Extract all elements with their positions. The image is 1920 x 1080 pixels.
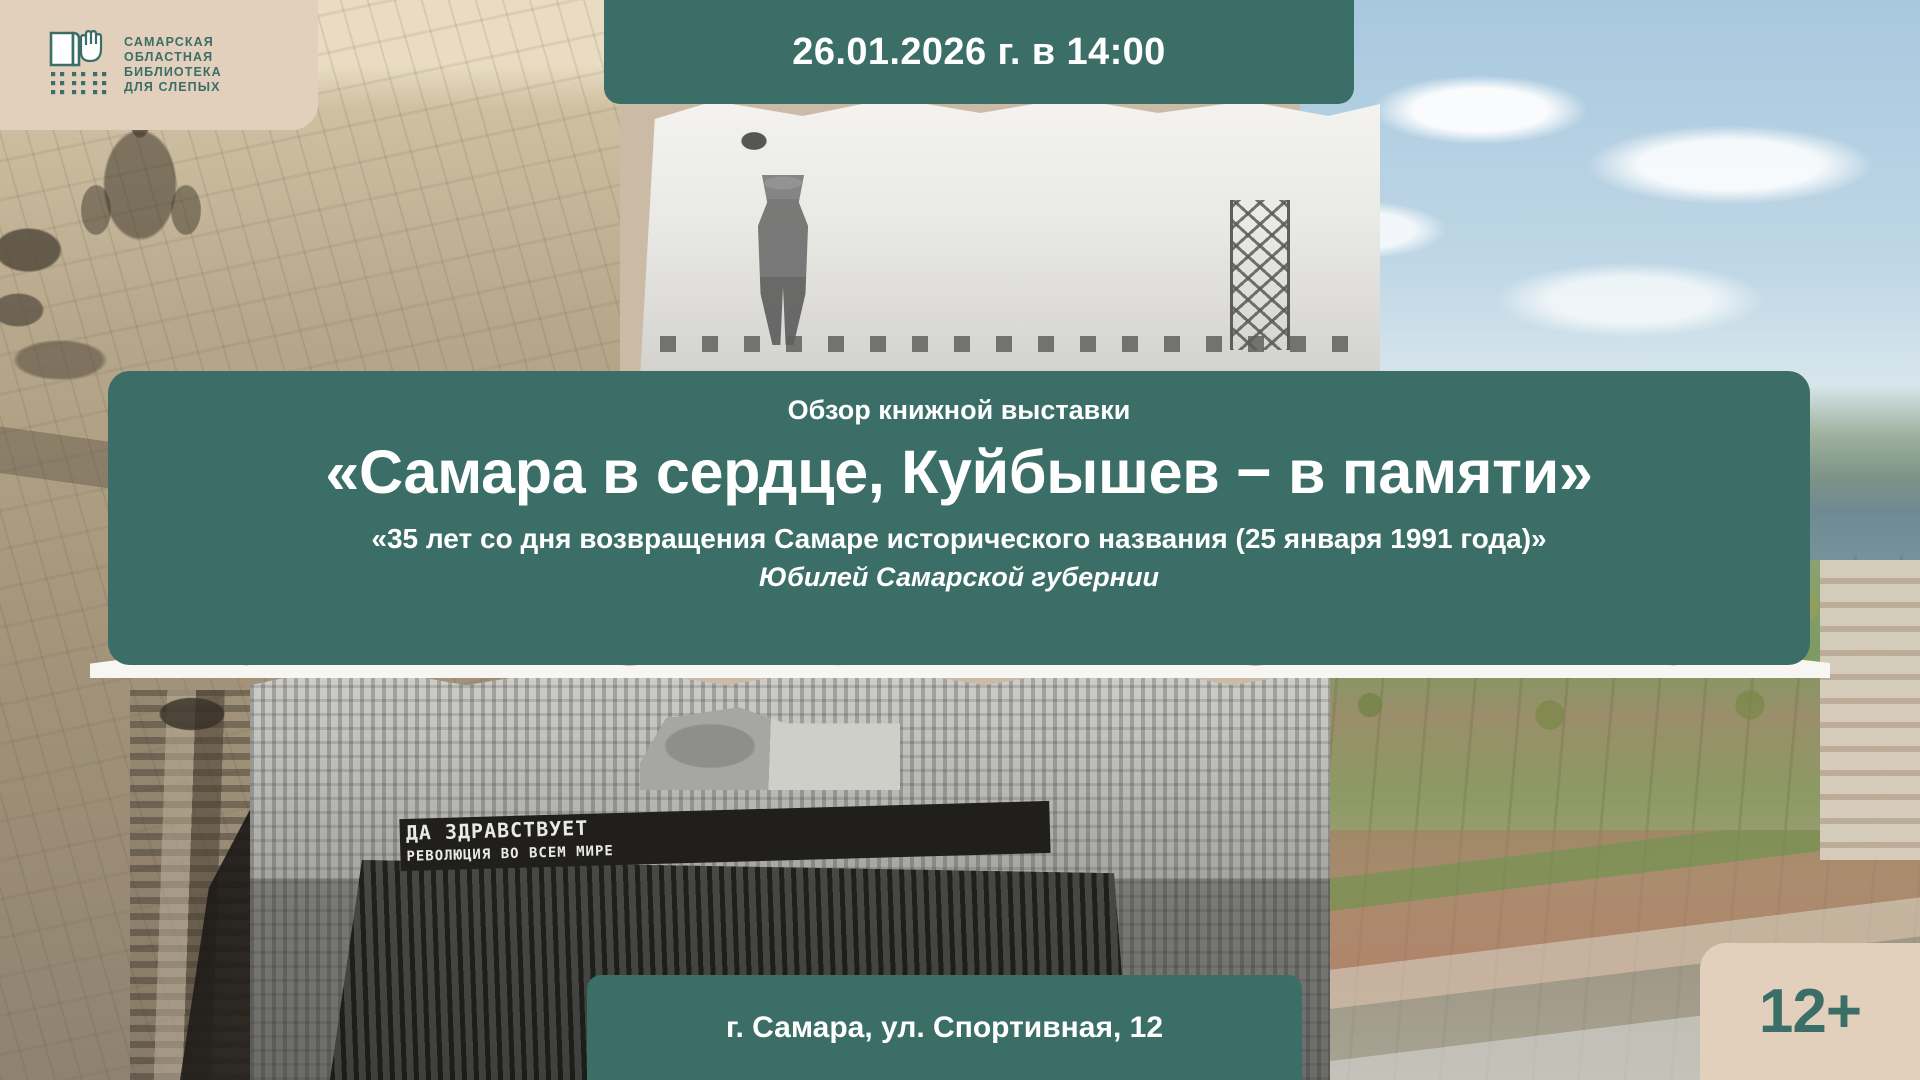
age-rating-text: 12+ <box>1759 976 1861 1047</box>
venue-address-text: г. Самара, ул. Спортивная, 12 <box>726 1011 1163 1045</box>
library-logo-panel: САМАРСКАЯ ОБЛАСТНАЯ БИБЛИОТЕКА ДЛЯ СЛЕПЫ… <box>0 0 318 130</box>
poster-canvas: ДА ЗДРАВСТВУЕТ РЕВОЛЮЦИЯ ВО ВСЕМ МИРЕ СА… <box>0 0 1920 1080</box>
event-date-banner: 26.01.2026 г. в 14:00 <box>604 0 1354 104</box>
subtitle-secondary: Юбилей Самарской губернии <box>148 562 1770 593</box>
event-kicker: Обзор книжной выставки <box>148 395 1770 426</box>
venue-address-banner: г. Самара, ул. Спортивная, 12 <box>587 975 1302 1080</box>
page-title: «Самара в сердце, Куйбышев − в памяти» <box>148 438 1770 506</box>
age-rating-badge: 12+ <box>1700 943 1920 1080</box>
right-building <box>1820 560 1920 860</box>
open-book-with-hand-braille-icon <box>48 30 110 100</box>
main-title-block: Обзор книжной выставки «Самара в сердце,… <box>108 371 1810 665</box>
library-name: САМАРСКАЯ ОБЛАСТНАЯ БИБЛИОТЕКА ДЛЯ СЛЕПЫ… <box>124 35 222 95</box>
event-date-text: 26.01.2026 г. в 14:00 <box>792 31 1165 74</box>
subtitle-primary: «35 лет со дня возвращения Самаре истори… <box>148 522 1770 556</box>
lattice-tower <box>1230 200 1290 350</box>
